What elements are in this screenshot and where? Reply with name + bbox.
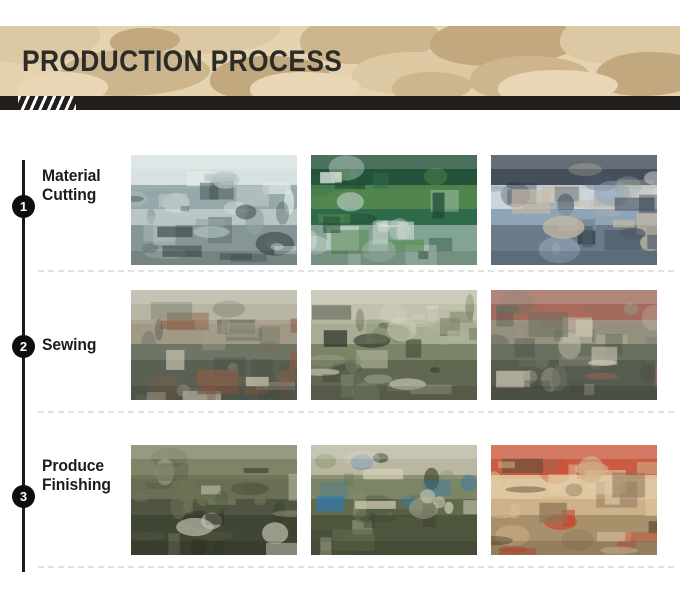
page-title: PRODUCTION PROCESS: [22, 26, 342, 98]
step-1-gallery: [131, 155, 657, 265]
process-step-row: 1 Material Cutting: [0, 140, 680, 278]
weaving-loom-machine-photo[interactable]: [131, 155, 297, 265]
step-2-gallery: [131, 290, 657, 400]
step-divider: [38, 566, 674, 568]
sewing-floor-overview-photo[interactable]: [131, 290, 297, 400]
step-label-2: Sewing: [42, 336, 96, 355]
step-divider: [38, 270, 674, 272]
step-marker-2: 2: [12, 335, 35, 358]
bulk-bag-pile-photo[interactable]: [311, 445, 477, 555]
finished-backpacks-rows-photo[interactable]: [131, 445, 297, 555]
camo-fabric-inspection-photo[interactable]: [311, 155, 477, 265]
step-marker-3: 3: [12, 485, 35, 508]
timeline-spine: [22, 160, 25, 572]
step-marker-1: 1: [12, 195, 35, 218]
process-steps-list: 1 Material Cutting 2 Sewing 3 Produce Fi…: [0, 140, 680, 572]
sewing-workshop-wide-photo[interactable]: [491, 290, 657, 400]
production-process-infographic: PRODUCTION PROCESS 1 Material Cutting 2 …: [0, 0, 680, 607]
hazard-stripes-icon: [18, 96, 76, 110]
packing-warehouse-photo[interactable]: [491, 445, 657, 555]
header-accent-bar: [0, 96, 680, 110]
step-label-3: Produce Finishing: [42, 457, 111, 495]
fabric-cutting-table-photo[interactable]: [491, 155, 657, 265]
step-divider: [38, 411, 674, 413]
process-step-row: 2 Sewing: [0, 278, 680, 428]
sewing-line-olive-fabric-photo[interactable]: [311, 290, 477, 400]
step-3-gallery: [131, 445, 657, 555]
step-label-1: Material Cutting: [42, 167, 100, 205]
process-step-row: 3 Produce Finishing: [0, 428, 680, 572]
header-banner: PRODUCTION PROCESS: [0, 26, 680, 98]
